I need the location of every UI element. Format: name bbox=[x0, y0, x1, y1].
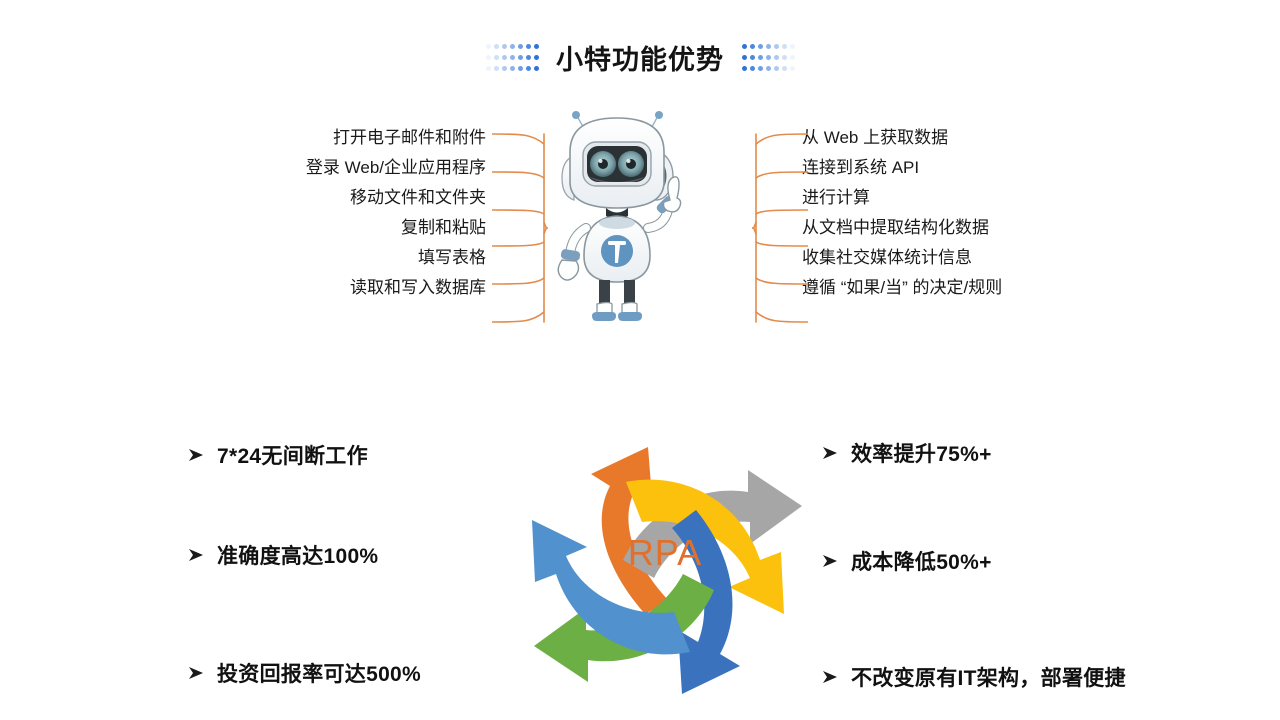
dot bbox=[494, 66, 499, 71]
dot bbox=[766, 66, 771, 71]
feature-item: 连接到系统 API bbox=[800, 158, 1200, 188]
dot bbox=[758, 44, 763, 49]
dot bbox=[526, 55, 531, 60]
chevron-bullet-icon bbox=[822, 445, 838, 461]
dot bbox=[758, 55, 763, 60]
feature-item: 收集社交媒体统计信息 bbox=[800, 248, 1200, 278]
dot bbox=[766, 55, 771, 60]
page-title: 小特功能优势 bbox=[556, 38, 724, 77]
feature-item: 从 Web 上获取数据 bbox=[800, 128, 1200, 158]
dot bbox=[750, 55, 755, 60]
feature-item: 从文档中提取结构化数据 bbox=[800, 218, 1200, 248]
bracket-right-icon bbox=[752, 128, 808, 328]
chevron-bullet-icon bbox=[822, 669, 838, 685]
robot-mascot-icon bbox=[546, 104, 688, 329]
dot bbox=[510, 55, 515, 60]
dot bbox=[790, 66, 795, 71]
dot-grid-right-icon bbox=[740, 41, 796, 74]
feature-list-left: 打开电子邮件和附件 登录 Web/企业应用程序 移动文件和文件夹 复制和粘贴 填… bbox=[160, 128, 490, 308]
dot bbox=[758, 66, 763, 71]
dot bbox=[790, 55, 795, 60]
dot bbox=[750, 44, 755, 49]
title-row: 小特功能优势 bbox=[0, 38, 1280, 77]
dot bbox=[782, 66, 787, 71]
dot bbox=[742, 44, 747, 49]
chevron-bullet-icon bbox=[188, 447, 204, 463]
benefit-text: 投资回报率可达500% bbox=[217, 658, 421, 688]
dot bbox=[502, 55, 507, 60]
dot bbox=[518, 55, 523, 60]
dot bbox=[782, 44, 787, 49]
dot bbox=[742, 66, 747, 71]
feature-list-right: 从 Web 上获取数据 连接到系统 API 进行计算 从文档中提取结构化数据 收… bbox=[800, 128, 1200, 308]
dot bbox=[502, 66, 507, 71]
benefit-text: 不改变原有IT架构，部署便捷 bbox=[851, 662, 1126, 692]
dot bbox=[502, 44, 507, 49]
dot bbox=[486, 44, 491, 49]
dot bbox=[534, 55, 539, 60]
dot bbox=[750, 66, 755, 71]
dot bbox=[534, 44, 539, 49]
feature-item: 登录 Web/企业应用程序 bbox=[160, 158, 490, 188]
chevron-bullet-icon bbox=[822, 553, 838, 569]
dot bbox=[742, 55, 747, 60]
dot bbox=[510, 66, 515, 71]
benefit-text: 7*24无间断工作 bbox=[217, 440, 368, 470]
dot bbox=[774, 66, 779, 71]
benefit-left-1: 7*24无间断工作 bbox=[188, 440, 368, 470]
dot bbox=[510, 44, 515, 49]
dot bbox=[782, 55, 787, 60]
feature-item: 移动文件和文件夹 bbox=[160, 188, 490, 218]
benefit-right-1: 效率提升75%+ bbox=[822, 438, 992, 468]
dot bbox=[486, 55, 491, 60]
bracket-left-icon bbox=[492, 128, 548, 328]
dot bbox=[766, 44, 771, 49]
dot bbox=[518, 44, 523, 49]
feature-item: 打开电子邮件和附件 bbox=[160, 128, 490, 158]
feature-item: 进行计算 bbox=[800, 188, 1200, 218]
chevron-bullet-icon bbox=[188, 547, 204, 563]
feature-item: 读取和写入数据库 bbox=[160, 278, 490, 308]
dot bbox=[494, 44, 499, 49]
benefit-right-2: 成本降低50%+ bbox=[822, 546, 992, 576]
dot bbox=[518, 66, 523, 71]
slide-canvas: 小特功能优势 打开电子邮件和附件 登录 Web/企业应用程序 移动文件和文件夹 … bbox=[0, 0, 1280, 720]
benefit-text: 准确度高达100% bbox=[217, 540, 378, 570]
dot bbox=[526, 66, 531, 71]
dot bbox=[486, 66, 491, 71]
feature-item: 遵循 “如果/当” 的决定/规则 bbox=[800, 278, 1200, 308]
benefit-left-2: 准确度高达100% bbox=[188, 540, 378, 570]
dot bbox=[494, 55, 499, 60]
dot bbox=[790, 44, 795, 49]
benefit-text: 效率提升75%+ bbox=[851, 438, 992, 468]
rpa-swirl-graphic bbox=[440, 352, 860, 720]
feature-item: 复制和粘贴 bbox=[160, 218, 490, 248]
dot-grid-left-icon bbox=[484, 41, 540, 74]
dot bbox=[526, 44, 531, 49]
chevron-bullet-icon bbox=[188, 665, 204, 681]
benefit-text: 成本降低50%+ bbox=[851, 546, 992, 576]
dot bbox=[774, 55, 779, 60]
dot bbox=[534, 66, 539, 71]
benefit-left-3: 投资回报率可达500% bbox=[188, 658, 421, 688]
benefit-right-3: 不改变原有IT架构，部署便捷 bbox=[822, 662, 1126, 692]
feature-item: 填写表格 bbox=[160, 248, 490, 278]
dot bbox=[774, 44, 779, 49]
